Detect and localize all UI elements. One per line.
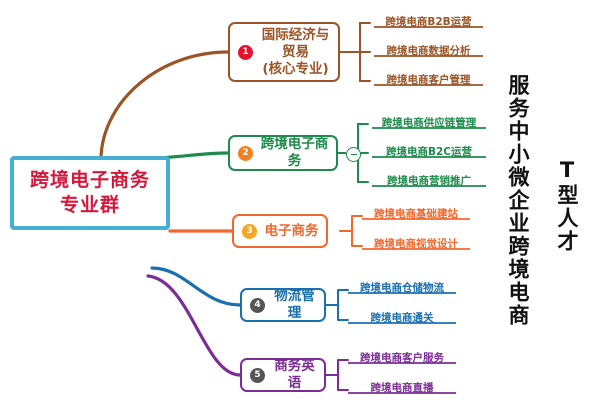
center-node[interactable]: 跨境电子商务 专业群 xyxy=(10,156,170,230)
leaf-item-3-1[interactable]: 跨境电商视觉设计 xyxy=(362,236,470,251)
leaf-item-1-2[interactable]: 跨境电商客户管理 xyxy=(374,72,483,87)
leaf-item-1-1[interactable]: 跨境电商数据分析 xyxy=(374,43,483,58)
center-node-line-1: 跨境电子商务 xyxy=(30,168,150,193)
branch-badge-2: 2 xyxy=(238,146,253,161)
leaf-item-1-0[interactable]: 跨境电商B2B运营 xyxy=(374,14,483,29)
connector-branch-5 xyxy=(148,276,240,375)
branch-badge-3: 3 xyxy=(242,224,257,239)
collapse-toggle-branch-2[interactable] xyxy=(346,147,361,162)
branch-label-1: 国际经济与贸易 (核心专业) xyxy=(259,27,338,78)
branch-node-3[interactable]: 3 电子商务 xyxy=(232,214,328,248)
leaf-item-3-0[interactable]: 跨境电商基础建站 xyxy=(362,206,470,221)
leaf-item-2-0[interactable]: 跨境电商供应链管理 xyxy=(372,115,486,130)
branch-node-4[interactable]: 4 物流管理 xyxy=(240,288,326,322)
branch-label-2: 跨境电子商务 xyxy=(259,136,336,170)
connector-branch-1 xyxy=(101,52,228,156)
leaf-item-4-1[interactable]: 跨境电商通关 xyxy=(348,310,456,325)
branch-label-3: 电子商务 xyxy=(263,223,326,240)
leaf-item-2-1[interactable]: 跨境电商B2C运营 xyxy=(372,144,486,159)
branch-badge-1: 1 xyxy=(238,45,253,60)
slogan-main: 服务中小微企业跨境电商 xyxy=(503,74,533,327)
leaf-bracket-1 xyxy=(358,23,370,81)
branch-label-4: 物流管理 xyxy=(271,288,324,322)
leaf-item-2-2[interactable]: 跨境电商营销推广 xyxy=(372,173,486,188)
leaf-item-5-0[interactable]: 跨境电商客户服务 xyxy=(348,350,456,365)
branch-badge-4: 4 xyxy=(250,298,265,313)
leaf-bracket-3 xyxy=(340,216,362,246)
branch-node-5[interactable]: 5 商务英语 xyxy=(240,358,326,392)
leaf-item-4-0[interactable]: 跨境电商仓储物流 xyxy=(348,280,456,295)
leaf-bracket-4 xyxy=(326,290,348,320)
branch-badge-5: 5 xyxy=(250,368,265,383)
branch-node-2[interactable]: 2 跨境电子商务 xyxy=(228,135,338,171)
leaf-bracket-5 xyxy=(326,360,348,390)
slogan-sub: T型人才 xyxy=(552,158,582,253)
mindmap-canvas: 跨境电子商务 专业群 1 国际经济与贸易 (核心专业) 跨境电商B2B运营 跨境… xyxy=(0,0,600,414)
branch-node-1[interactable]: 1 国际经济与贸易 (核心专业) xyxy=(228,22,340,82)
leaf-item-5-1[interactable]: 跨境电商直播 xyxy=(348,380,456,395)
center-node-line-2: 专业群 xyxy=(60,193,120,218)
connector-branch-4 xyxy=(152,268,240,305)
branch-label-5: 商务英语 xyxy=(271,358,324,392)
minus-icon xyxy=(351,154,357,156)
